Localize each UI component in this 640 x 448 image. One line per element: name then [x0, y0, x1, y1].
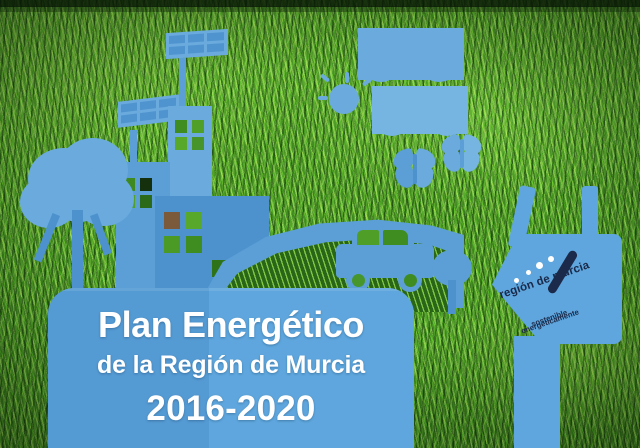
sun-ray — [345, 72, 349, 83]
car-wheel-rear-hub — [404, 274, 417, 287]
panel-cell — [169, 35, 185, 44]
panel-cell — [207, 43, 224, 52]
butterfly-right — [440, 134, 484, 176]
plug-dot — [526, 270, 531, 275]
sun-ray — [320, 73, 330, 82]
building-low-window — [186, 212, 202, 229]
sun-ray — [318, 96, 328, 100]
car-wheel-front-hub — [352, 274, 365, 287]
tree-small-trunk — [448, 280, 456, 314]
sun-disc — [329, 84, 359, 114]
building-tower-window — [175, 137, 187, 150]
title-block: Plan Energético de la Región de Murcia 2… — [48, 288, 414, 426]
plug-dot — [536, 262, 543, 269]
solar-panel-tall-array — [166, 29, 228, 59]
cloud-upper-right — [358, 28, 464, 80]
cloud-lower-right — [372, 86, 468, 134]
plug-dot — [548, 256, 554, 262]
plug-dot — [514, 278, 519, 283]
page-subtitle: de la Región de Murcia — [48, 353, 414, 378]
page-year-range: 2016-2020 — [48, 391, 414, 426]
panel-cell — [140, 100, 156, 110]
building-low-window — [164, 236, 180, 253]
panel-cell — [121, 102, 137, 112]
energy-plan-poster: región de murcia sostenible energéticame… — [0, 0, 640, 448]
panel-cell — [121, 113, 137, 123]
panel-cell — [207, 32, 224, 41]
building-tower-window — [192, 137, 204, 150]
car-window-rear — [383, 230, 408, 245]
building-tower-window — [192, 120, 204, 133]
panel-cell — [188, 34, 204, 43]
plug-logo: región de murcia sostenible energéticame… — [474, 186, 640, 448]
title-banner: Plan Energético de la Región de Murcia 2… — [48, 288, 414, 448]
building-mid-window — [140, 195, 152, 208]
butterfly-body — [460, 139, 464, 168]
butterfly-body — [413, 154, 417, 184]
building-low-window — [186, 236, 202, 253]
butterfly-left — [392, 148, 438, 192]
panel-cell — [169, 46, 185, 55]
building-mid-window — [140, 178, 152, 191]
car-window-front — [357, 230, 379, 245]
plug-cord — [514, 336, 560, 448]
page-title: Plan Energético — [48, 307, 414, 343]
panel-cell — [188, 45, 204, 54]
building-low-window — [164, 212, 180, 229]
solar-panel-tall-pole — [179, 58, 186, 106]
building-tower-window — [175, 120, 187, 133]
panel-cell — [140, 111, 156, 121]
